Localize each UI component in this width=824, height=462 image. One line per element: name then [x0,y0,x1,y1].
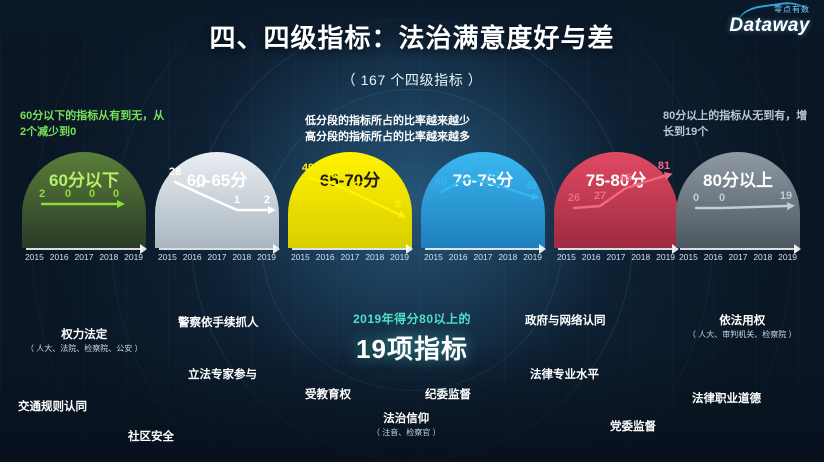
score-band[interactable]: 70-75分6076644920152016201720182019 [421,152,545,280]
axis-tick-label: 2018 [229,252,254,262]
indicator-list: 权力法定（ 人大、法院、检察院、公安 ）交通规则认同社区安全警察依手续抓人立法专… [0,300,824,462]
axis-tick-label: 2017 [338,252,363,262]
indicator-item[interactable]: 警察依手续抓人 [178,316,259,331]
band-axis [26,248,142,250]
band-value: 49 [525,180,537,192]
band-value-labels: 0019 [676,186,800,246]
indicator-name: 警察依手续抓人 [178,316,259,331]
indicator-name: 交通规则认同 [18,400,87,415]
indicator-name: 权力法定 [26,328,142,343]
indicator-item[interactable]: 社区安全 [128,430,174,445]
band-value-labels: 26276581 [554,186,678,246]
indicator-item[interactable]: 立法专家参与 [188,368,257,383]
axis-tick-label: 2018 [96,252,121,262]
axis-tick-label: 2015 [22,252,47,262]
indicator-sub: （ 人大、法院、检察院、公安 ） [26,343,142,355]
band-value: 26 [568,192,580,204]
axis-tick-label: 2019 [775,252,800,262]
band-value: 17 [195,178,207,190]
annotation-middle: 低分段的指标所占的比率越来越少 高分段的指标所占的比率越来越多 [305,113,535,145]
axis-tick-label: 2019 [254,252,279,262]
band-axis [159,248,275,250]
band-value: 1 [234,194,240,206]
indicator-name: 纪委监督 [425,388,471,403]
page-title: 四、四级指标：法治满意度好与差 [0,18,824,55]
band-value: 0 [113,188,119,200]
axis-tick-label: 2018 [362,252,387,262]
indicator-name: 依法用权 [688,314,796,329]
band-value: 0 [719,192,725,204]
band-value: 28 [169,166,181,178]
band-axis [425,248,541,250]
indicator-name: 受教育权 [305,388,351,403]
axis-tick-label: 2015 [676,252,701,262]
indicator-name: 党委监督 [610,420,656,435]
indicator-name: 立法专家参与 [188,368,257,383]
band-value: 49 [302,162,314,174]
band-value: 64 [487,168,499,180]
band-value-labels: 2000 [22,186,146,246]
band-axis-ticks: 20152016201720182019 [22,252,146,262]
band-value: 5 [395,198,401,210]
axis-tick-label: 2018 [628,252,653,262]
band-value: 19 [780,190,792,202]
axis-tick-label: 2016 [47,252,72,262]
band-value-labels: 4945275 [288,186,412,246]
slide-root: 零点有数 Dataway 四、四级指标：法治满意度好与差 （ 167 个四级指标… [0,0,824,462]
score-band[interactable]: 60分以下200020152016201720182019 [22,152,146,280]
annotation-middle-line1: 低分段的指标所占的比率越来越少 [305,113,535,129]
band-axis [680,248,796,250]
axis-tick-label: 2017 [604,252,629,262]
band-value: 2 [264,194,270,206]
indicator-item[interactable]: 依法用权（ 人大、审判机关、检察院 ） [688,314,796,341]
indicator-name: 法治信仰 [372,412,440,427]
band-axis-ticks: 20152016201720182019 [554,252,678,262]
score-band[interactable]: 65-70分494527520152016201720182019 [288,152,412,280]
band-value: 0 [89,188,95,200]
indicator-item[interactable]: 政府与网络认同 [525,314,606,329]
band-value: 0 [693,192,699,204]
band-value: 76 [461,162,473,174]
annotation-middle-line2: 高分段的指标所占的比率越来越多 [305,129,535,145]
axis-tick-label: 2016 [701,252,726,262]
score-band[interactable]: 80分以上001920152016201720182019 [676,152,800,280]
indicator-sub: （ 人大、审判机关、检察院 ） [688,329,796,341]
band-axis-ticks: 20152016201720182019 [676,252,800,262]
indicator-item[interactable]: 法律职业道德 [692,392,761,407]
band-axis-ticks: 20152016201720182019 [288,252,412,262]
axis-tick-label: 2016 [180,252,205,262]
axis-tick-label: 2017 [471,252,496,262]
axis-tick-label: 2015 [421,252,446,262]
axis-tick-label: 2018 [495,252,520,262]
band-value: 45 [328,168,340,180]
band-value: 0 [65,188,71,200]
band-axis [292,248,408,250]
indicator-sub: （ 注音、检察官 ） [372,427,440,439]
band-axis-ticks: 20152016201720182019 [421,252,545,262]
axis-tick-label: 2019 [387,252,412,262]
band-value: 27 [354,180,366,192]
axis-tick-label: 2015 [554,252,579,262]
indicator-item[interactable]: 法律专业水平 [530,368,599,383]
indicator-item[interactable]: 党委监督 [610,420,656,435]
indicator-name: 法律职业道德 [692,392,761,407]
score-band-row: 60分以下20002015201620172018201960-65分28171… [0,152,824,282]
score-band[interactable]: 60-65分28171220152016201720182019 [155,152,279,280]
band-value: 27 [594,190,606,202]
annotation-right: 80分以上的指标从无到有，增长到19个 [663,108,813,140]
band-value: 2 [39,188,45,200]
axis-tick-label: 2017 [72,252,97,262]
band-value: 81 [658,160,670,172]
page-subtitle: （ 167 个四级指标 ） [0,70,824,90]
axis-tick-label: 2017 [726,252,751,262]
axis-tick-label: 2015 [288,252,313,262]
indicator-name: 社区安全 [128,430,174,445]
band-axis-ticks: 20152016201720182019 [155,252,279,262]
indicator-item[interactable]: 受教育权 [305,388,351,403]
band-value-labels: 60766449 [421,186,545,246]
indicator-item[interactable]: 法治信仰（ 注音、检察官 ） [372,412,440,439]
indicator-item[interactable]: 纪委监督 [425,388,471,403]
indicator-item[interactable]: 交通规则认同 [18,400,87,415]
axis-tick-label: 2019 [121,252,146,262]
indicator-name: 政府与网络认同 [525,314,606,329]
band-value-labels: 281712 [155,186,279,246]
axis-tick-label: 2016 [313,252,338,262]
axis-tick-label: 2015 [155,252,180,262]
band-value: 65 [620,172,632,184]
band-axis [558,248,674,250]
indicator-item[interactable]: 权力法定（ 人大、法院、检察院、公安 ） [26,328,142,355]
axis-tick-label: 2017 [205,252,230,262]
axis-tick-label: 2016 [446,252,471,262]
axis-tick-label: 2016 [579,252,604,262]
band-value: 60 [435,176,447,188]
axis-tick-label: 2019 [653,252,678,262]
annotation-left: 60分以下的指标从有到无，从2个减少到0 [20,108,170,140]
axis-tick-label: 2018 [750,252,775,262]
score-band[interactable]: 75-80分2627658120152016201720182019 [554,152,678,280]
axis-tick-label: 2019 [520,252,545,262]
indicator-name: 法律专业水平 [530,368,599,383]
